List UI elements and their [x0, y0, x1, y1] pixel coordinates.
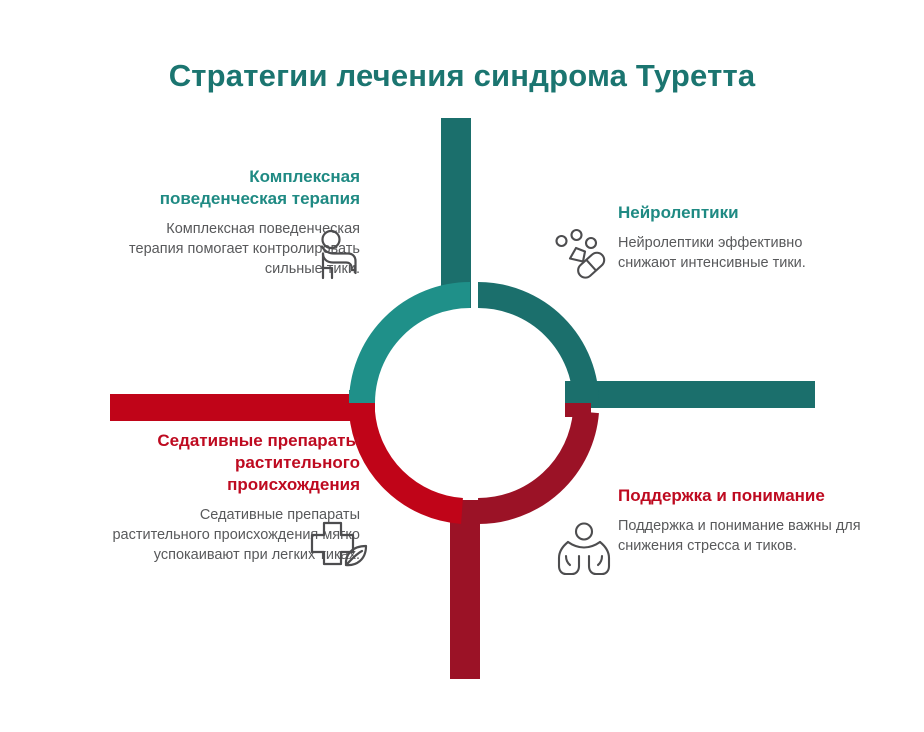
arc-bottom-right [478, 412, 586, 511]
block-support: Поддержка и понимание Поддержка и понима… [618, 485, 868, 556]
arc-top-left-cap [349, 390, 375, 404]
arc-top-left [362, 295, 470, 403]
arc-bottom-left [362, 412, 462, 511]
arc-bottom-left-cap [349, 403, 375, 417]
pills-icon [552, 224, 612, 284]
block-support-body: Поддержка и понимание важны для снижения… [618, 516, 868, 556]
arc-bottom-right-cap [565, 403, 591, 417]
arm-bottom [450, 500, 480, 679]
arc-top-right-cap [565, 381, 591, 403]
arm-right [566, 381, 815, 408]
infographic-canvas: Стратегии лечения синдрома Туретта Компл… [0, 0, 924, 732]
block-neuroleptics-heading: Нейролептики [618, 202, 848, 224]
block-cbt-heading: Комплексная поведенческая терапия [120, 166, 360, 210]
block-neuroleptics-body: Нейролептики эффективно снижают интенсив… [618, 233, 848, 273]
person-in-chair-icon [308, 226, 364, 282]
ring-diagram [0, 0, 924, 732]
block-neuroleptics: Нейролептики Нейролептики эффективно сни… [618, 202, 848, 273]
medical-cross-leaf-icon [308, 518, 374, 578]
block-support-heading: Поддержка и понимание [618, 485, 868, 507]
block-herbal-heading: Седативные препараты растительного проис… [100, 430, 360, 496]
arm-left [110, 394, 370, 421]
arm-top [441, 118, 471, 308]
supporting-hands-icon [554, 520, 614, 580]
